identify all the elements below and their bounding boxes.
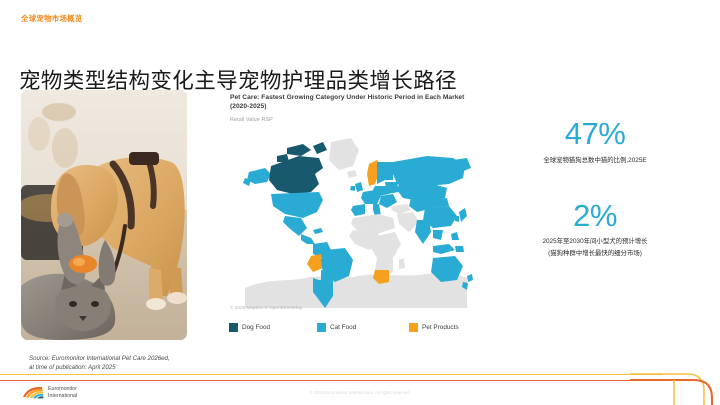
chart-legend: Dog Food Cat Food Pet Products [229, 323, 475, 332]
legend-swatch-pet-products [409, 323, 418, 332]
legend-swatch-cat-food [317, 323, 326, 332]
source-note-line1: Source: Euromonitor International Pet Ca… [29, 354, 170, 363]
footer-copyright: © 2024 Euromonitor International. All ri… [0, 390, 720, 395]
stat-caption-cat-share: 全球宠物猫狗总数中猫的比例,2025E [478, 156, 712, 166]
slide-kicker: 全球宠物市场概览 [21, 13, 83, 24]
corner-decoration [630, 352, 720, 405]
stat-block-cat-share: 47% 全球宠物猫狗总数中猫的比例,2025E [478, 118, 712, 166]
stat-block-small-dog-growth: 2% 2025年至2030年间小型犬的预计增长 (猫狗种群中增长最快的细分市场) [478, 200, 712, 259]
legend-swatch-dog-food [229, 323, 238, 332]
world-choropleth-map[interactable] [227, 128, 475, 308]
source-note: Source: Euromonitor International Pet Ca… [29, 354, 170, 373]
stat-value-small-dog-growth: 2% [478, 200, 712, 233]
chart-panel: Pet Care: Fastest Growing Category Under… [227, 90, 475, 340]
legend-label-pet-products: Pet Products [422, 324, 459, 331]
chart-subtitle: Retail Value RSP [230, 117, 273, 123]
legend-label-cat-food: Cat Food [330, 324, 356, 331]
legend-item-cat-food[interactable]: Cat Food [317, 323, 409, 332]
dog-and-cat-photo [21, 90, 187, 340]
map-attribution: © 2025 Mapbox © OpenStreetMap [230, 305, 302, 310]
footer-rule-yellow [0, 374, 662, 375]
key-statistics: 47% 全球宠物猫狗总数中猫的比例,2025E 2% 2025年至2030年间小… [478, 118, 712, 293]
stat-caption-small-dog-growth-line2: (猫狗种群中增长最快的细分市场) [478, 249, 712, 259]
stat-value-cat-share: 47% [478, 118, 712, 151]
footer-rule-orange [0, 380, 662, 382]
legend-label-dog-food: Dog Food [242, 324, 270, 331]
legend-item-dog-food[interactable]: Dog Food [229, 323, 317, 332]
slide-canvas: 全球宠物市场概览 宠物类型结构变化主导宠物护理品类增长路径 [0, 0, 720, 405]
chart-title: Pet Care: Fastest Growing Category Under… [230, 93, 470, 112]
stat-caption-small-dog-growth-line1: 2025年至2030年间小型犬的预计增长 [478, 237, 712, 247]
legend-item-pet-products[interactable]: Pet Products [409, 323, 459, 332]
source-note-line2: at time of publication: April 2025 [29, 363, 170, 372]
